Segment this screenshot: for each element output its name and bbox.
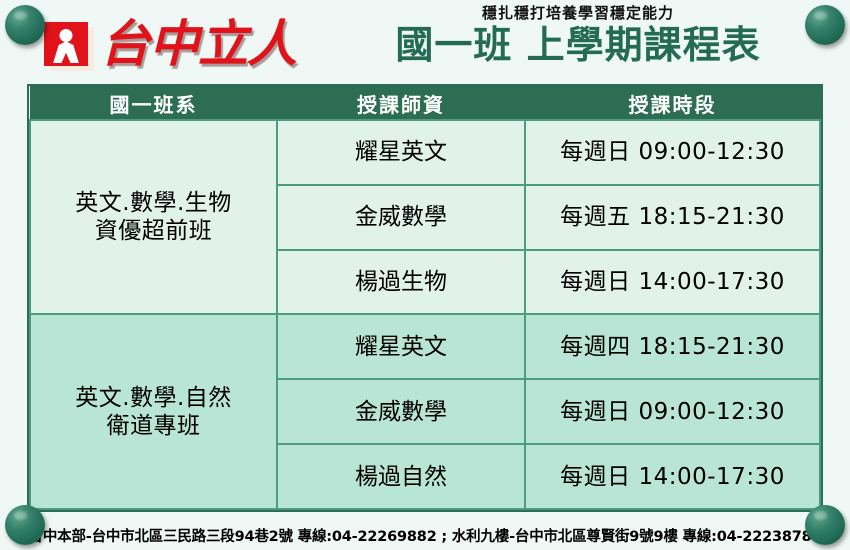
group-name-line2: 衛道專班 [107, 413, 201, 439]
corner-decoration-bottom-right [805, 505, 845, 545]
column-header-teacher: 授課師資 [277, 87, 525, 121]
time-cell: 每週日 09:00-12:30 [525, 120, 820, 185]
table-header-row: 國一班系 授課師資 授課時段 [30, 87, 820, 121]
column-header-class: 國一班系 [30, 87, 277, 121]
page-header: 台中立人 穩扎穩打培養學習穩定能力 國一班 上學期課程表 [0, 0, 850, 84]
time-cell: 每週日 09:00-12:30 [525, 379, 820, 444]
page-title: 國一班 上學期課程表 [358, 25, 798, 66]
table-row: 英文.數學.生物 資優超前班 耀星英文 每週日 09:00-12:30 [30, 120, 820, 185]
teacher-cell: 楊過自然 [277, 444, 525, 509]
column-header-time: 授課時段 [525, 87, 820, 121]
schedule-table-container: 國一班系 授課師資 授課時段 英文.數學.生物 資優超前班 耀星英文 每週日 0… [27, 84, 823, 512]
teacher-cell: 金威數學 [277, 185, 525, 250]
group-name-line2: 資優超前班 [95, 218, 213, 244]
time-cell: 每週五 18:15-21:30 [525, 185, 820, 250]
teacher-cell: 耀星英文 [277, 314, 525, 379]
group-name-cell-1: 英文.數學.生物 資優超前班 [30, 120, 277, 314]
table-row: 英文.數學.自然 衛道專班 耀星英文 每週四 18:15-21:30 [30, 314, 820, 379]
brand-name: 台中立人 [100, 19, 296, 69]
title-block: 穩扎穩打培養學習穩定能力 國一班 上學期課程表 [358, 4, 798, 66]
corner-decoration-top-right [805, 5, 845, 45]
person-figure-icon [44, 22, 88, 66]
group-name-cell-2: 英文.數學.自然 衛道專班 [30, 314, 277, 509]
tagline: 穩扎穩打培養學習穩定能力 [358, 4, 798, 24]
time-cell: 每週日 14:00-17:30 [525, 250, 820, 315]
footer-contact-info: 台中本部-台中市北區三民路三段94巷2號 專線:04-22269882 ; 水利… [0, 525, 850, 546]
teacher-cell: 楊過生物 [277, 250, 525, 315]
corner-decoration-top-left [5, 5, 45, 45]
schedule-table: 國一班系 授課師資 授課時段 英文.數學.生物 資優超前班 耀星英文 每週日 0… [29, 86, 821, 510]
group-name-line1: 英文.數學.生物 [75, 190, 232, 216]
brand-logo: 台中立人 [44, 19, 296, 69]
corner-decoration-bottom-left [5, 505, 45, 545]
time-cell: 每週日 14:00-17:30 [525, 444, 820, 509]
time-cell: 每週四 18:15-21:30 [525, 314, 820, 379]
teacher-cell: 金威數學 [277, 379, 525, 444]
group-name-line1: 英文.數學.自然 [75, 385, 232, 411]
teacher-cell: 耀星英文 [277, 120, 525, 185]
